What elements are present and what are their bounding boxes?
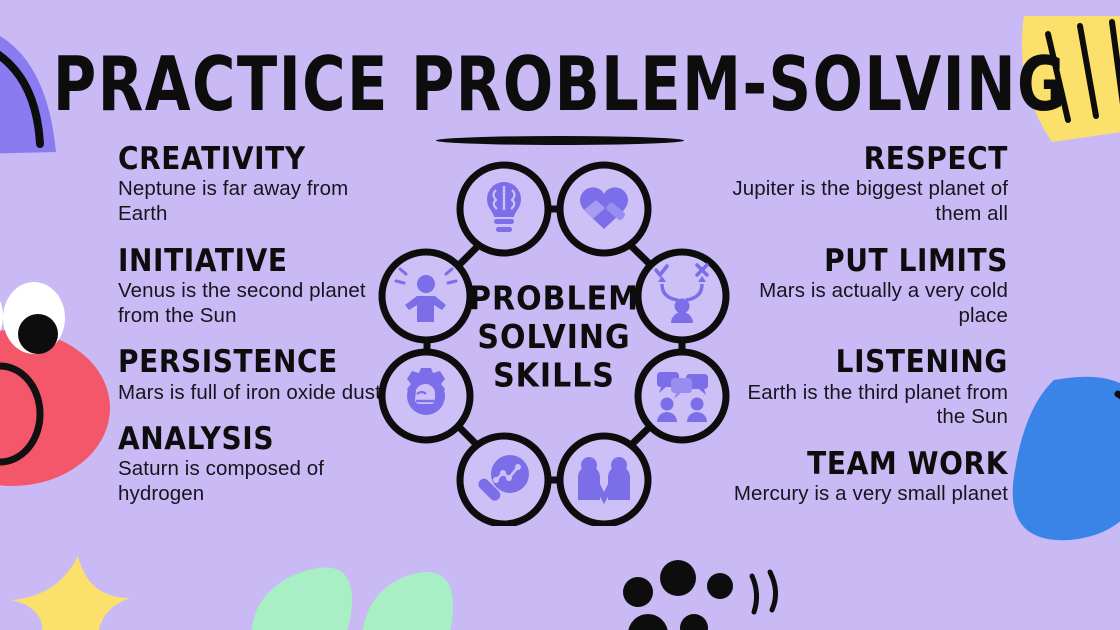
right-column: Respect Jupiter is the biggest planet of… (732, 142, 1008, 507)
item-title: Initiative (118, 244, 394, 277)
page-title: Practice Problem-Solving (0, 48, 1120, 109)
list-item[interactable]: Team Work Mercury is a very small planet (732, 447, 1008, 507)
item-body: Mars is full of iron oxide dust (118, 381, 394, 406)
item-title: Team Work (732, 447, 1008, 480)
blue-blob-shape (1000, 372, 1120, 547)
page-title-text: Practice Problem-Solving (17, 48, 1103, 122)
list-item[interactable]: Persistence Mars is full of iron oxide d… (118, 345, 394, 405)
item-title: Put Limits (732, 244, 1008, 277)
item-body: Jupiter is the biggest planet of them al… (732, 177, 1008, 227)
list-item[interactable]: Creativity Neptune is far away from Eart… (118, 142, 394, 227)
node-team-work (560, 436, 648, 524)
item-body: Mercury is a very small planet (732, 482, 1008, 507)
black-dots-shape (612, 558, 797, 630)
title-underline (436, 136, 684, 145)
item-body: Mars is actually a very cold place (732, 279, 1008, 329)
node-creativity (460, 165, 548, 253)
item-title: Persistence (118, 345, 394, 378)
item-title: Respect (732, 142, 1008, 175)
node-analysis (460, 436, 548, 524)
list-item[interactable]: Listening Earth is the third planet from… (732, 345, 1008, 430)
list-item[interactable]: Initiative Venus is the second planet fr… (118, 244, 394, 329)
center-label-line-2: Solving (374, 319, 734, 357)
item-body: Neptune is far away from Earth (118, 177, 394, 227)
slide-canvas: Practice Problem-Solving Creativity Nept… (0, 0, 1120, 630)
item-body: Saturn is composed of hydrogen (118, 457, 394, 507)
item-title: Listening (732, 345, 1008, 378)
item-title: Analysis (118, 422, 394, 455)
list-item[interactable]: Analysis Saturn is composed of hydrogen (118, 422, 394, 507)
pink-googly-face-shape (0, 268, 117, 488)
problem-solving-circle-diagram: Problem Solving Skills (374, 158, 734, 526)
yellow-star-shape (10, 552, 140, 630)
node-respect (560, 165, 648, 253)
list-item[interactable]: Put Limits Mars is actually a very cold … (732, 244, 1008, 329)
left-column: Creativity Neptune is far away from Eart… (118, 142, 394, 507)
mint-leaves-shape (246, 560, 461, 630)
item-body: Venus is the second planet from the Sun (118, 279, 394, 329)
center-label-line-3: Skills (374, 357, 734, 395)
list-item[interactable]: Respect Jupiter is the biggest planet of… (732, 142, 1008, 227)
item-title: Creativity (118, 142, 394, 175)
diagram-center-label: Problem Solving Skills (374, 281, 734, 396)
two-people-handshake-icon[interactable] (560, 436, 648, 524)
item-body: Earth is the third planet from the Sun (732, 381, 1008, 431)
center-label-line-1: Problem (374, 281, 734, 319)
